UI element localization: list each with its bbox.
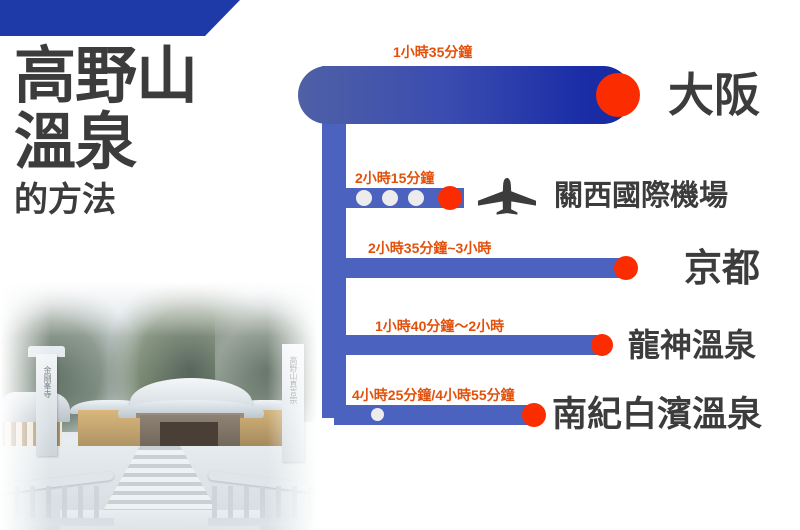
route-duration-ryujin-onsen: 1小時40分鐘～2小時 — [375, 318, 504, 334]
route-terminus-kansai-airport — [438, 186, 462, 210]
title-subtitle: 的方法 — [14, 178, 197, 222]
title-line-2: 溫泉 — [14, 110, 197, 176]
route-terminus-kyoto — [614, 256, 638, 280]
page-title: 高野山 溫泉 的方法 — [14, 44, 197, 222]
airplane-icon — [472, 176, 542, 216]
route-terminus-osaka — [596, 73, 640, 117]
route-terminus-ryujin-onsen — [591, 334, 613, 356]
route-bar-ryujin-onsen — [334, 335, 600, 355]
route-destination-nanki-shirahama-onsen: 南紀白濱溫泉 — [552, 397, 762, 432]
infographic-root: 前往 高野山 溫泉 的方法 — [0, 0, 800, 530]
route-duration-kansai-airport: 2小時15分鐘 — [355, 170, 434, 186]
route-duration-nanki-shirahama-onsen: 4小時25分鐘/4小時55分鐘 — [352, 387, 515, 403]
route-destination-ryujin-onsen: 龍神溫泉 — [628, 329, 756, 361]
route-destination-osaka: 大阪 — [668, 72, 760, 118]
route-bar-nanki-shirahama-onsen — [334, 405, 536, 425]
title-line-1: 高野山 — [14, 44, 197, 110]
route-stop-dot — [382, 190, 398, 206]
route-stop-dot — [408, 190, 424, 206]
route-bar-kyoto — [334, 258, 626, 278]
route-terminus-nanki-shirahama-onsen — [522, 403, 546, 427]
route-bar-osaka — [298, 66, 632, 124]
route-duration-kyoto: 2小時35分鐘~3小時 — [368, 240, 491, 256]
route-duration-osaka: 1小時35分鐘 — [393, 44, 472, 60]
header-banner — [0, 0, 240, 36]
route-destination-kansai-airport: 關西國際機場 — [554, 182, 728, 211]
route-destination-kyoto: 京都 — [684, 250, 760, 288]
route-stop-dot — [371, 408, 384, 421]
route-stop-dot — [356, 190, 372, 206]
